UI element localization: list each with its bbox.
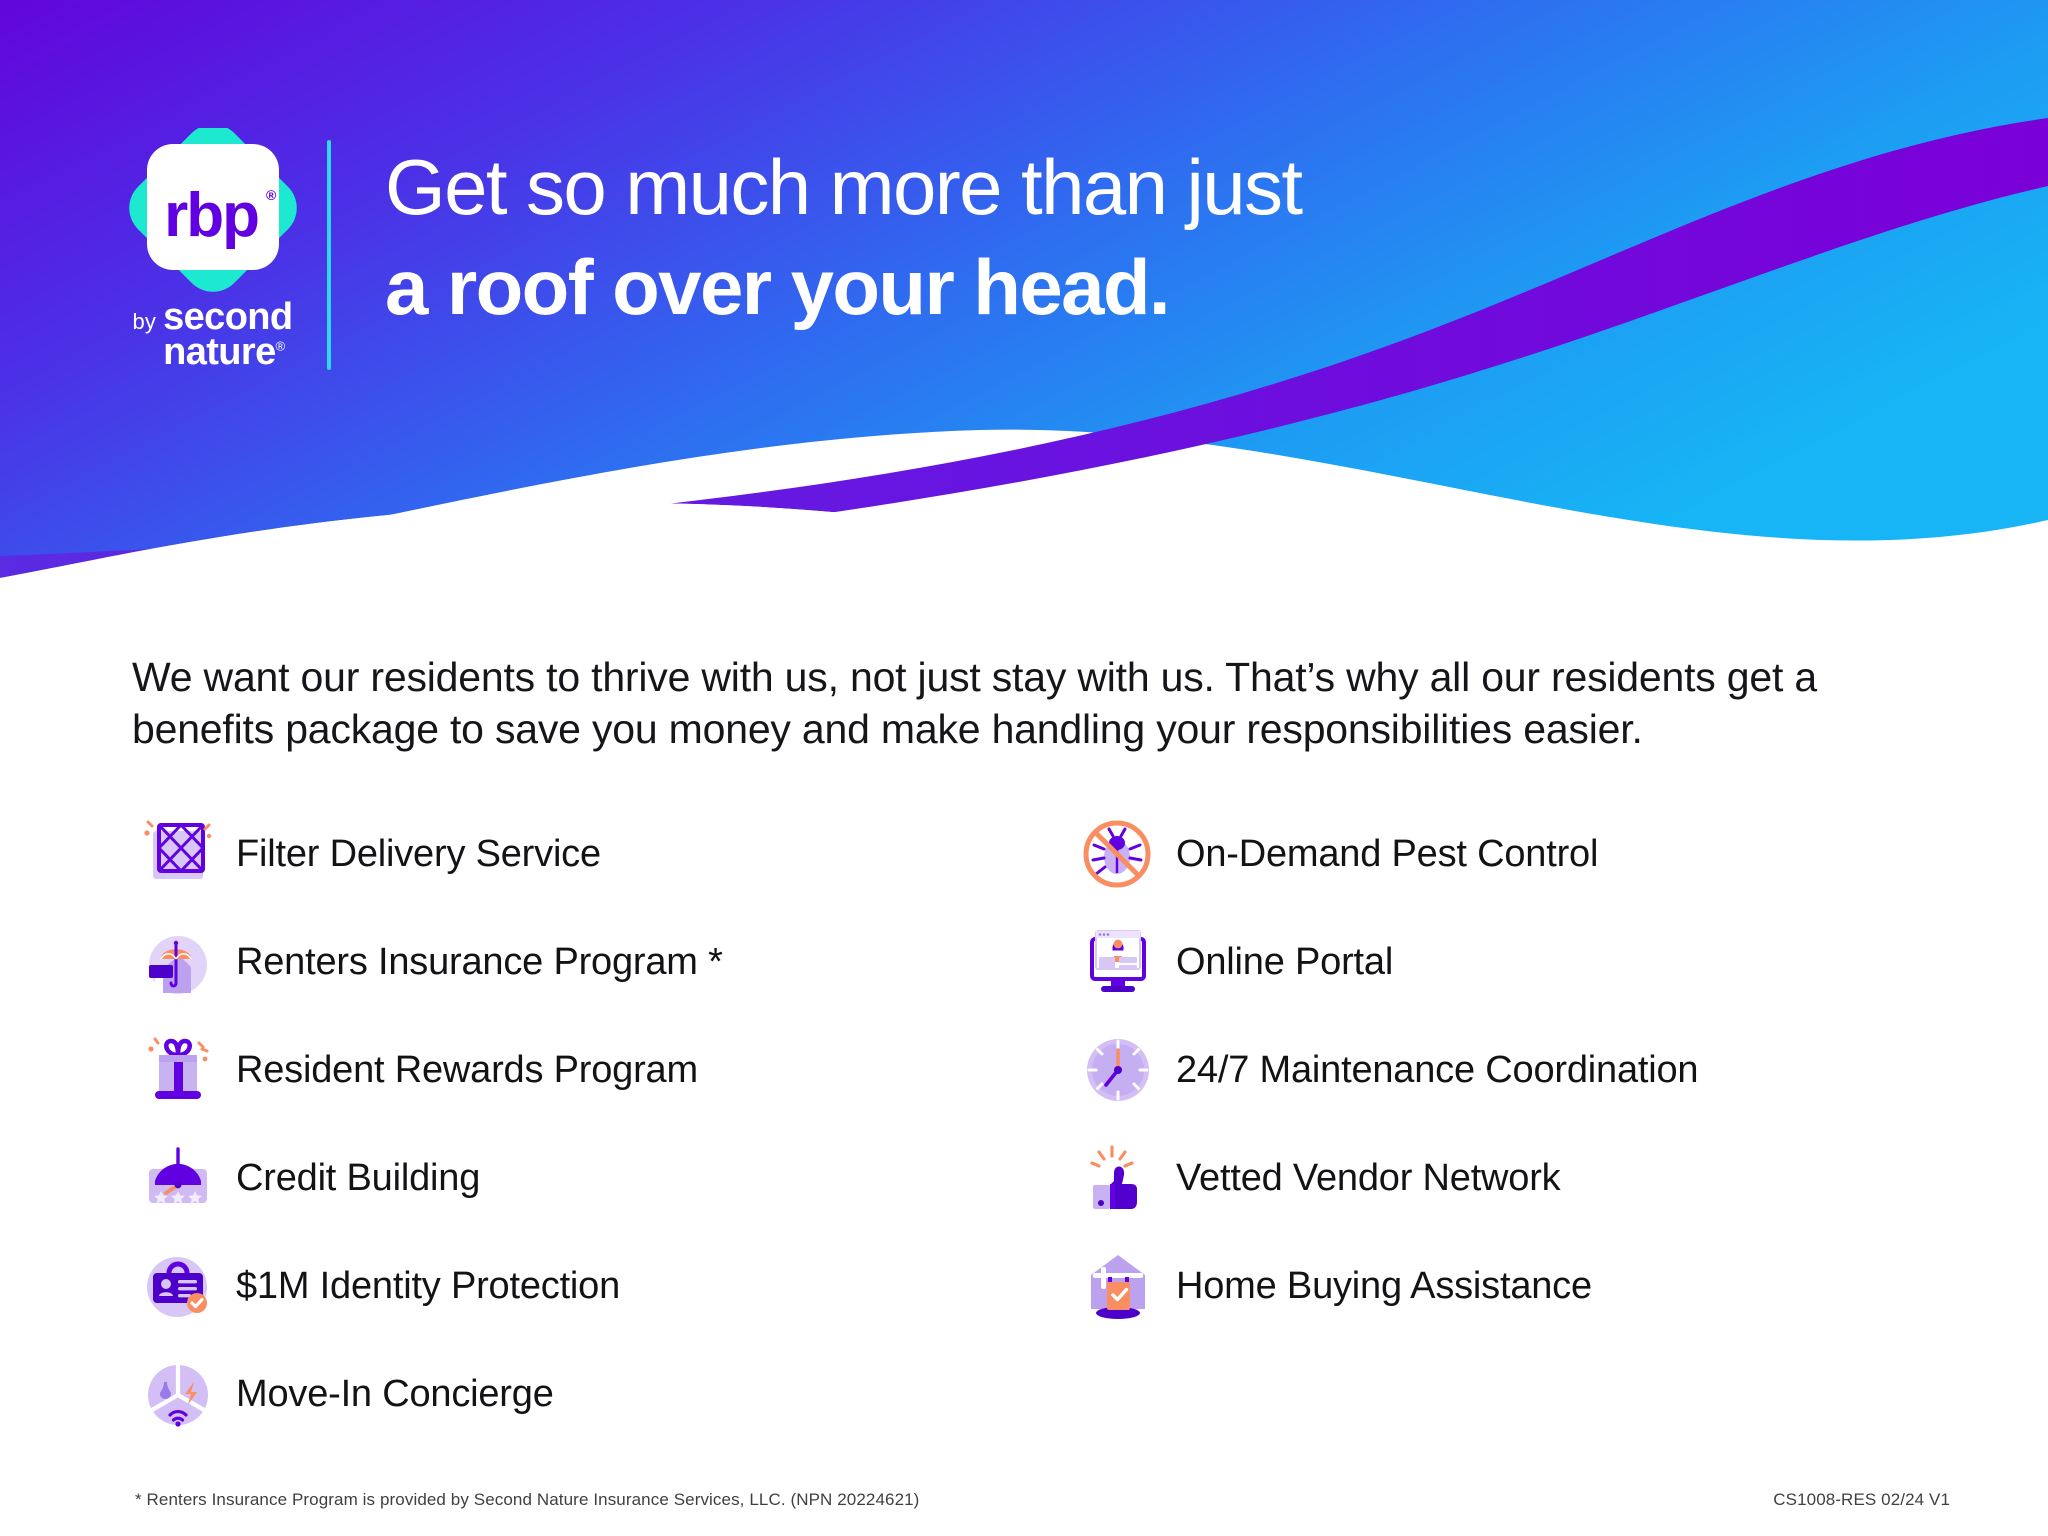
rbp-logo-mark-icon: rbp ® xyxy=(123,128,303,300)
intro-paragraph: We want our residents to thrive with us,… xyxy=(132,652,1922,755)
benefit-item-credit-building: Credit Building xyxy=(132,1124,1072,1232)
benefit-label: On-Demand Pest Control xyxy=(1176,833,1598,876)
benefit-item-identity-protection: $1M Identity Protection xyxy=(132,1232,1072,1340)
benefits-column-left: Filter Delivery Service Renters I xyxy=(132,800,1072,1448)
utilities-wifi-icon xyxy=(132,1353,224,1435)
flyer-page: rbp ® by second nature® Get so much more… xyxy=(0,0,2048,1536)
logo-brand-line2: nature xyxy=(163,331,276,373)
benefits-column-right: On-Demand Pest Control xyxy=(1072,800,1932,1448)
benefit-label: Credit Building xyxy=(236,1157,480,1200)
benefit-item-home-buying: Home Buying Assistance xyxy=(1072,1232,1932,1340)
logo-brand-text: second nature® xyxy=(163,300,292,370)
svg-text:®: ® xyxy=(266,187,277,203)
headline-line-2: a roof over your head. xyxy=(385,248,1565,326)
document-code: CS1008-RES 02/24 V1 xyxy=(1773,1490,1950,1510)
clock-icon xyxy=(1072,1029,1164,1111)
umbrella-house-icon xyxy=(132,921,224,1003)
home-sold-sign-icon xyxy=(1072,1245,1164,1327)
benefit-item-online-portal: Online Portal xyxy=(1072,908,1932,1016)
benefit-label: 24/7 Maintenance Coordination xyxy=(1176,1049,1698,1092)
benefit-label: Filter Delivery Service xyxy=(236,833,601,876)
benefit-item-filter-delivery: Filter Delivery Service xyxy=(132,800,1072,908)
second-nature-wordmark: by second nature® xyxy=(110,300,315,370)
benefit-label: Online Portal xyxy=(1176,941,1393,984)
logo-by-text: by xyxy=(132,309,156,335)
benefit-item-move-in-concierge: Move-In Concierge xyxy=(132,1340,1072,1448)
page-title: Get so much more than just a roof over y… xyxy=(385,148,1565,326)
headline-line-1: Get so much more than just xyxy=(385,148,1565,226)
desktop-portal-icon xyxy=(1072,921,1164,1003)
benefit-label: Renters Insurance Program * xyxy=(236,941,723,984)
thumbs-up-icon xyxy=(1072,1137,1164,1219)
benefit-item-maintenance: 24/7 Maintenance Coordination xyxy=(1072,1016,1932,1124)
benefit-item-vendor-network: Vetted Vendor Network xyxy=(1072,1124,1932,1232)
benefits-list: Filter Delivery Service Renters I xyxy=(132,800,1932,1448)
benefit-item-pest-control: On-Demand Pest Control xyxy=(1072,800,1932,908)
credit-gauge-icon xyxy=(132,1137,224,1219)
benefit-label: Resident Rewards Program xyxy=(236,1049,698,1092)
benefit-label: Home Buying Assistance xyxy=(1176,1265,1592,1308)
gift-box-icon xyxy=(132,1029,224,1111)
logo-registered-mark: ® xyxy=(276,338,285,353)
vertical-divider xyxy=(327,140,331,370)
benefit-label: $1M Identity Protection xyxy=(236,1265,620,1308)
no-pest-icon xyxy=(1072,813,1164,895)
id-badge-check-icon xyxy=(132,1245,224,1327)
svg-text:rbp: rbp xyxy=(164,181,258,250)
benefit-item-renters-insurance: Renters Insurance Program * xyxy=(132,908,1072,1016)
benefit-label: Vetted Vendor Network xyxy=(1176,1157,1560,1200)
air-filter-icon xyxy=(132,813,224,895)
footnote-disclaimer: * Renters Insurance Program is provided … xyxy=(135,1490,919,1510)
benefit-label: Move-In Concierge xyxy=(236,1373,554,1416)
hero-banner: rbp ® by second nature® Get so much more… xyxy=(0,0,2048,620)
benefit-item-resident-rewards: Resident Rewards Program xyxy=(132,1016,1072,1124)
rbp-logo-lockup: rbp ® by second nature® xyxy=(110,128,315,368)
